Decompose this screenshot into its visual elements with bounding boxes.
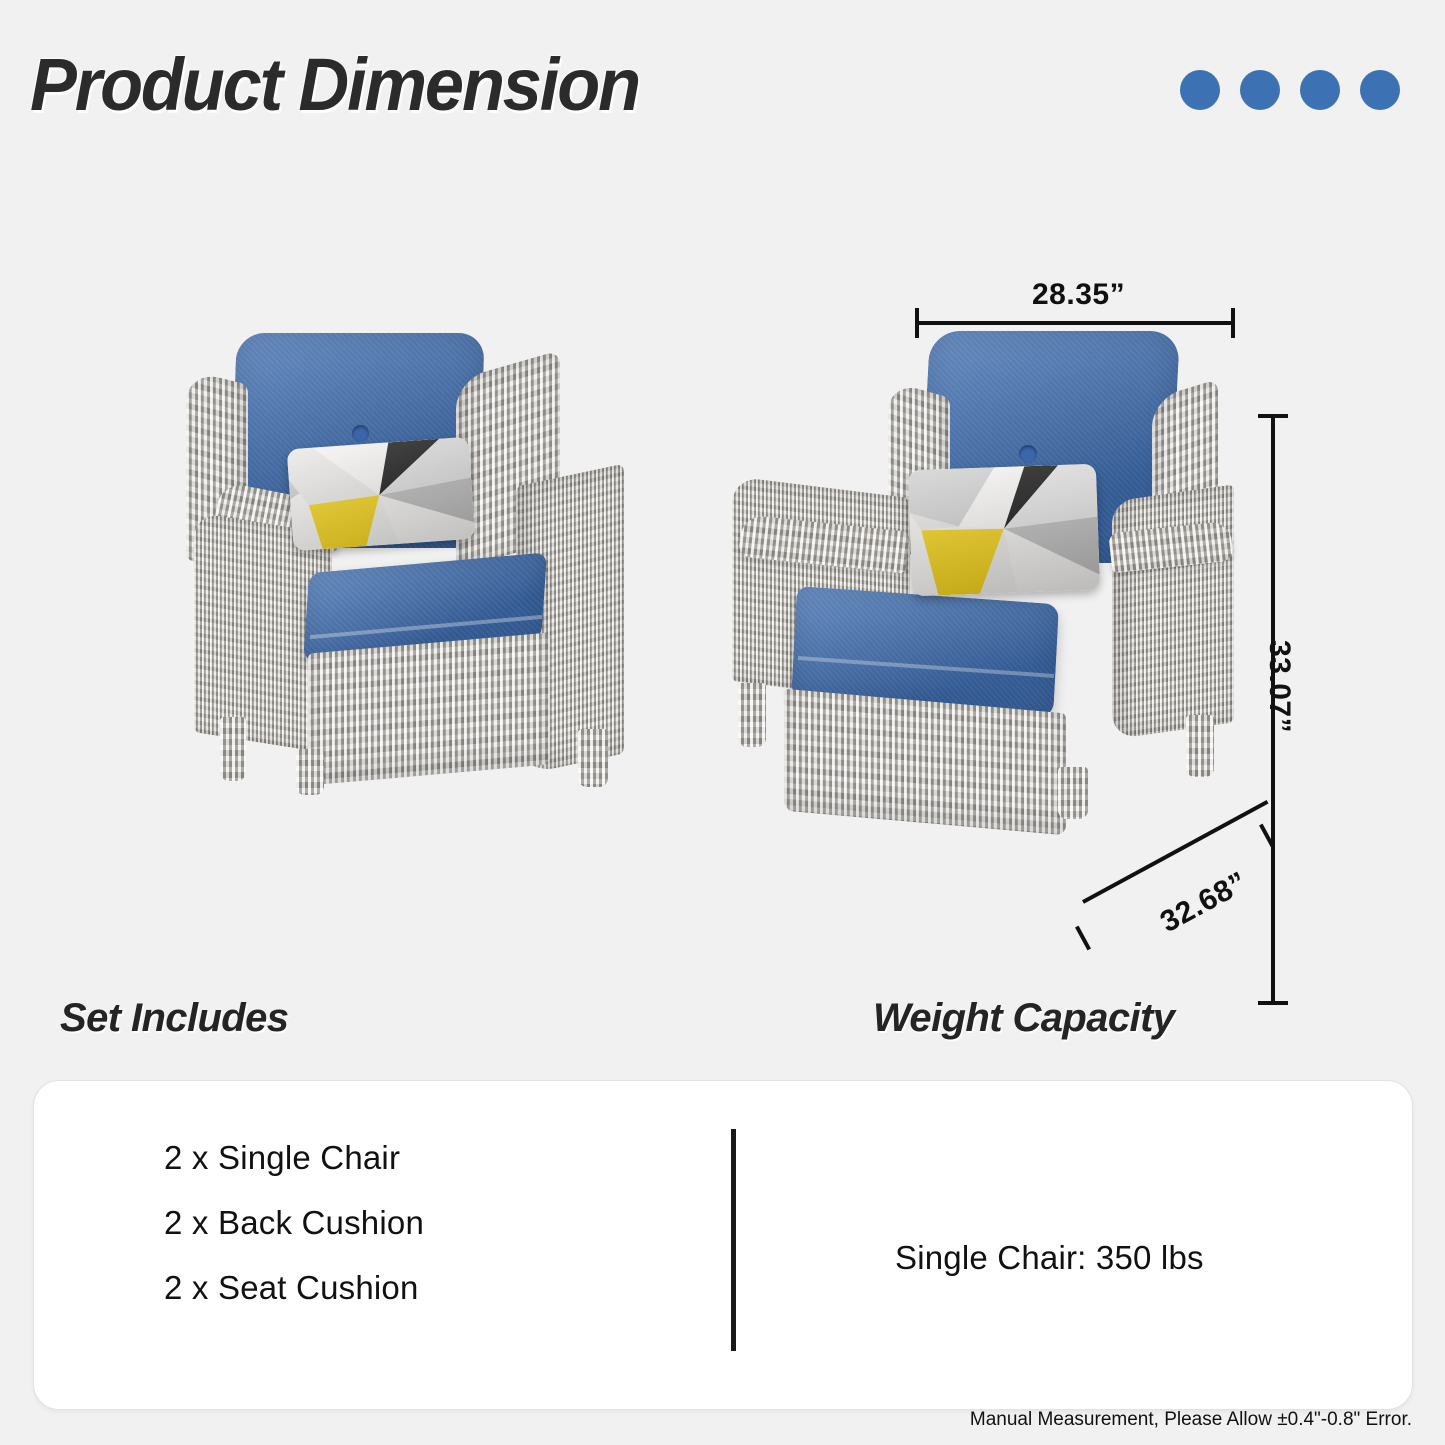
- pillow-wedge-shadow: [908, 464, 1100, 596]
- depth-dimension-label: 32.68”: [1155, 866, 1253, 940]
- rear-right-leg: [1186, 715, 1214, 777]
- height-dimension-cap-bottom: [1258, 1001, 1288, 1005]
- width-dimension-line: [915, 321, 1235, 325]
- front-apron-panel: [308, 632, 550, 785]
- decorative-dot-icon: [1360, 70, 1400, 110]
- decorative-dot-icon: [1300, 70, 1340, 110]
- card-vertical-divider: [731, 1129, 736, 1351]
- cushion-button-tuft: [352, 425, 369, 442]
- height-dimension-label: 33.07”: [1262, 640, 1296, 733]
- width-dimension-label: 28.35”: [1032, 278, 1125, 312]
- list-item: 2 x Single Chair: [164, 1139, 424, 1177]
- list-item: 2 x Seat Cushion: [164, 1269, 424, 1307]
- set-includes-heading: Set Includes: [60, 996, 288, 1041]
- decorative-throw-pillow: [287, 437, 476, 551]
- weight-capacity-heading: Weight Capacity: [873, 996, 1174, 1041]
- front-left-leg: [220, 717, 246, 781]
- height-dimension-cap-top: [1258, 414, 1288, 418]
- product-chair-right: [712, 327, 1252, 827]
- front-right-leg: [296, 749, 324, 795]
- width-dimension-cap-right: [1231, 308, 1235, 338]
- measurement-disclaimer: Manual Measurement, Please Allow ±0.4"-0…: [970, 1409, 1412, 1431]
- pillow-wedge-shadow: [287, 437, 476, 551]
- depth-dimension-cap-lower-left: [1075, 926, 1091, 951]
- front-left-leg: [738, 683, 766, 747]
- front-right-leg: [1058, 767, 1088, 819]
- front-apron-panel: [784, 689, 1066, 836]
- decorative-throw-pillow: [908, 464, 1100, 596]
- decorative-dot-icon: [1180, 70, 1220, 110]
- info-card: 2 x Single Chair 2 x Back Cushion 2 x Se…: [33, 1080, 1413, 1410]
- decorative-dot-group: [1180, 70, 1400, 110]
- cushion-button-tuft: [1019, 445, 1037, 463]
- rear-right-leg: [578, 729, 608, 787]
- product-chair-left: [178, 325, 658, 795]
- list-item: 2 x Back Cushion: [164, 1204, 424, 1242]
- weight-capacity-value: Single Chair: 350 lbs: [895, 1239, 1204, 1277]
- product-image-stage: 28.35” 33.07” 32.68”: [0, 175, 1445, 975]
- decorative-dot-icon: [1240, 70, 1280, 110]
- page-title: Product Dimension: [30, 42, 639, 127]
- set-includes-list: 2 x Single Chair 2 x Back Cushion 2 x Se…: [164, 1139, 424, 1307]
- width-dimension-cap-left: [915, 308, 919, 338]
